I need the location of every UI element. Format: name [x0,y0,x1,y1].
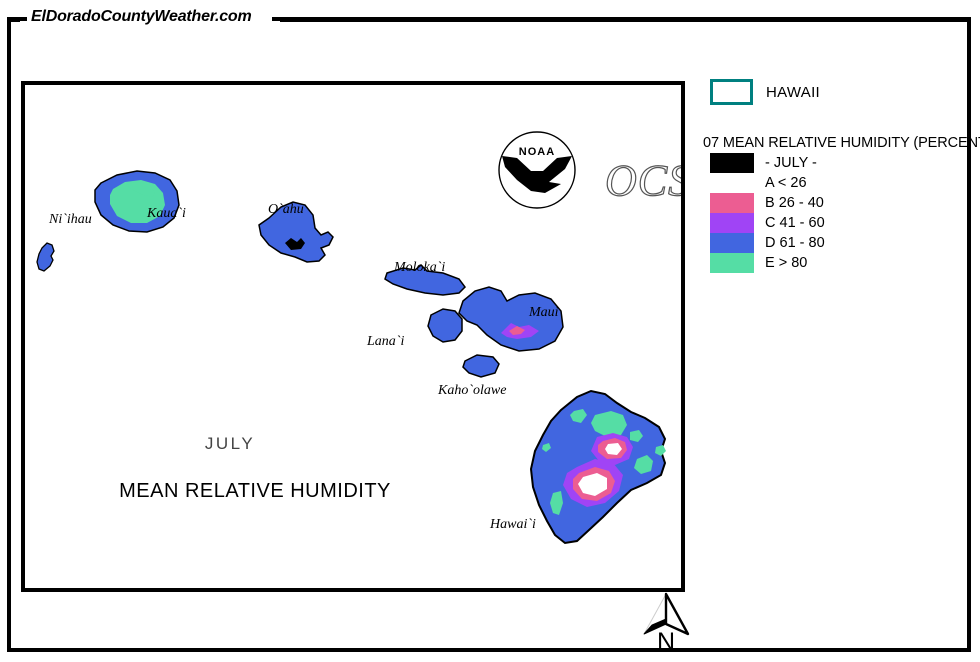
island-label-maui: Maui [528,305,559,320]
island-label-molokai: Moloka`i [393,260,445,275]
title-rule-left [7,17,27,21]
legend-swatch-b [710,193,754,213]
hawaii-region-label: HAWAII [766,84,820,101]
north-label: N [638,628,694,657]
legend-row-d: D 61 - 80 [703,233,975,253]
north-arrow: N [638,592,694,658]
island-lanai [428,309,462,342]
legend-swatch-month [710,153,754,173]
legend-label-e: E > 80 [765,255,807,271]
noaa-logo: NOAA [499,132,575,208]
legend-label-month: - JULY - [765,155,817,171]
title-rule-right [272,17,971,21]
legend-row-a: A < 26 [703,173,975,193]
legend-heading: 07 MEAN RELATIVE HUMIDITY (PERCENT) [703,135,975,151]
map-panel[interactable]: Ni`ihau Kaua`i O`ahu Moloka`i Lana`i Kah… [21,81,685,592]
subject-caption: MEAN RELATIVE HUMIDITY [119,480,391,502]
island-label-kahoolawe: Kaho`olawe [437,383,506,398]
legend-swatch-c [710,213,754,233]
noaa-wordmark: NOAA [519,146,555,158]
island-label-lanai: Lana`i [366,334,404,349]
page-title: ElDoradoCountyWeather.com [31,8,252,26]
island-label-kauai: Kaua`i [146,206,186,221]
island-niihau [37,243,54,271]
legend-row-b: B 26 - 40 [703,193,975,213]
hawaii-region-swatch [710,79,753,105]
island-label-hawaii: Hawai`i [489,517,536,532]
legend-swatch-e [710,253,754,273]
legend-row-e: E > 80 [703,253,975,273]
legend-swatch-a [710,173,754,193]
island-hawaii [531,391,666,543]
legend-row-c: C 41 - 60 [703,213,975,233]
legend-swatch-d [710,233,754,253]
ocs-wordmark: OCS [605,156,681,205]
legend-row-month: - JULY - [703,153,975,173]
legend-class-list: - JULY - A < 26 B 26 - 40 C 41 - 60 D 61… [703,153,975,273]
island-kauai [95,171,179,232]
island-label-niihau: Ni`ihau [48,212,92,227]
month-caption: JULY [205,434,255,453]
island-label-oahu: O`ahu [268,202,304,217]
legend-label-a: A < 26 [765,175,807,191]
hawaii-humidity-map: Ni`ihau Kaua`i O`ahu Moloka`i Lana`i Kah… [25,85,681,588]
legend-panel: HAWAII 07 MEAN RELATIVE HUMIDITY (PERCEN… [703,78,975,273]
legend-label-d: D 61 - 80 [765,235,825,251]
island-kahoolawe [463,355,499,377]
legend-region-row: HAWAII [703,78,975,106]
legend-label-b: B 26 - 40 [765,195,824,211]
legend-label-c: C 41 - 60 [765,215,825,231]
